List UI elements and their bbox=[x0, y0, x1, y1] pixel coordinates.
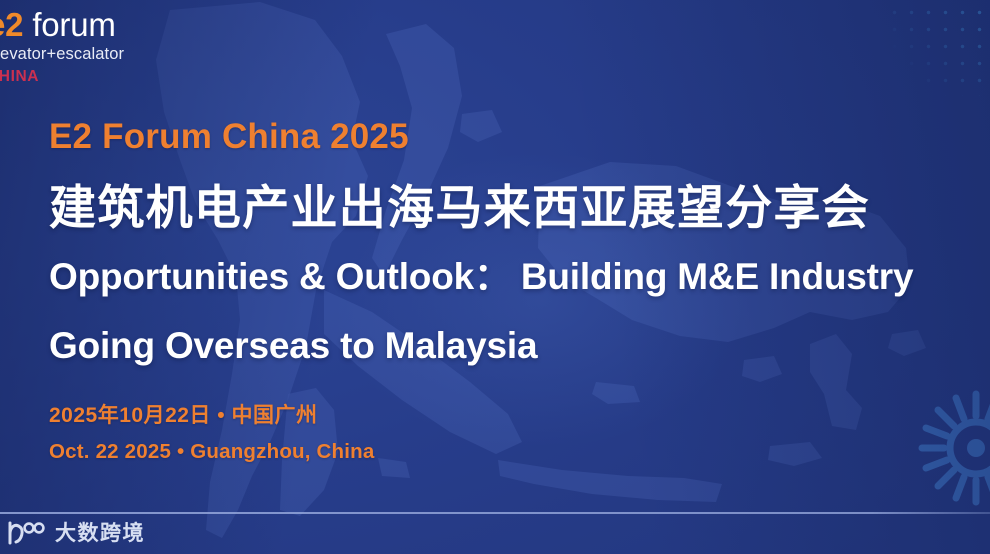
event-meta: 2025年10月22日 • 中国广州 Oct. 22 2025 • Guangz… bbox=[49, 405, 990, 463]
watermark-logo-icon bbox=[4, 520, 46, 546]
poster-canvas: e2forum elevator+escalator CHINA E2 Foru… bbox=[0, 0, 990, 554]
brand-tagline: elevator+escalator bbox=[0, 46, 167, 63]
event-date-chinese: 2025年10月22日 • 中国广州 bbox=[49, 405, 990, 426]
headline-english-line1: Opportunities & Outlook： Building M&E In… bbox=[49, 249, 990, 305]
brand-logo-forum: forum bbox=[32, 6, 115, 43]
headline-chinese: 建筑机电产业出海马来西亚展望分享会 bbox=[49, 182, 990, 235]
poster-content: E2 Forum China 2025 建筑机电产业出海马来西亚展望分享会 Op… bbox=[49, 118, 990, 462]
dot-grid-pattern bbox=[886, 4, 990, 96]
event-date-english: Oct. 22 2025 • Guangzhou, China bbox=[49, 442, 990, 463]
event-kicker: E2 Forum China 2025 bbox=[49, 118, 990, 155]
brand-logo-wordmark: e2forum bbox=[0, 8, 167, 41]
bottom-divider bbox=[0, 512, 990, 514]
brand-logo-e2: e2 bbox=[0, 6, 23, 43]
watermark-text: 大数跨境 bbox=[55, 523, 145, 544]
watermark: 大数跨境 bbox=[4, 520, 145, 546]
headline-english-line2: Going Overseas to Malaysia bbox=[49, 318, 990, 374]
brand-logo: e2forum elevator+escalator CHINA bbox=[0, 8, 167, 84]
brand-region: CHINA bbox=[0, 69, 167, 85]
